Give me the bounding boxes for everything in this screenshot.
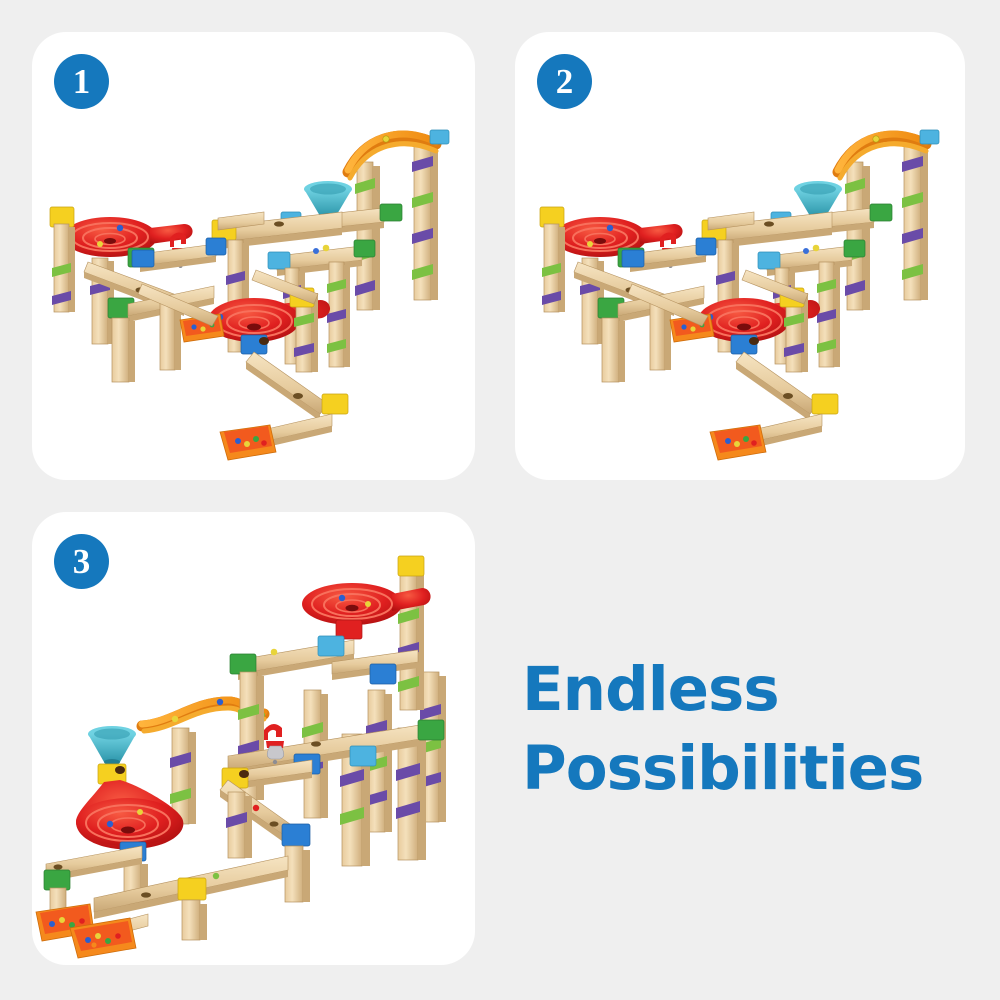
block-yellow-top-right (398, 556, 424, 576)
step-badge-1: 1 (54, 54, 109, 109)
tagline-line-2: Possibilities (522, 729, 962, 808)
block-blue-diag-end (282, 824, 310, 846)
block-green-mid-rail-right (418, 720, 444, 740)
run-structure (540, 130, 939, 460)
block-teal-top-right (920, 130, 939, 144)
block-green-lower-right (354, 240, 375, 257)
block-yellow-tray-joint (322, 394, 348, 414)
block-yellow-tray-joint (812, 394, 838, 414)
product-image: 1 (0, 0, 1000, 1000)
post-left-a (52, 224, 75, 312)
block-yellow-bottom-rail (178, 878, 206, 900)
post-midright-a (817, 262, 840, 367)
post-tall-right-a (412, 140, 438, 300)
post-bottom-mid (182, 900, 207, 940)
step-card-3: 3 (32, 512, 475, 965)
block-teal-upper-right (318, 636, 344, 656)
block-blue-bell-right (206, 238, 226, 255)
block-teal-mid-rail (350, 746, 376, 766)
block-teal-top-right (430, 130, 449, 144)
marble-tray-bottom (220, 425, 276, 460)
block-blue-bell-left (622, 250, 644, 267)
post-under-diag-left (226, 792, 252, 858)
block-green-lower-right (844, 240, 865, 257)
block-green-tray-joint (44, 870, 70, 890)
block-blue-under-funnel (241, 335, 269, 354)
post-midright-a (327, 262, 350, 367)
block-green-upper-left (230, 654, 256, 674)
run-structure (50, 130, 449, 460)
block-blue-bell-right (696, 238, 716, 255)
block-green-rail-right (870, 204, 892, 221)
post-left-a (542, 224, 565, 312)
tagline-line-1: Endless (522, 650, 962, 729)
block-blue-bell-left (132, 250, 154, 267)
step-badge-2: 2 (537, 54, 592, 109)
tagline: Endless Possibilities (522, 650, 962, 809)
post-tall-right-a (902, 140, 928, 300)
post-tall-right-b (355, 162, 380, 310)
block-teal-lower-left (758, 252, 780, 269)
block-teal-lower-left (268, 252, 290, 269)
block-green-rail-right (380, 204, 402, 221)
block-blue-mid-right (370, 664, 396, 684)
marble-tray-bottom (710, 425, 766, 460)
run-structure (36, 556, 446, 958)
block-blue-under-funnel (731, 335, 759, 354)
step-badge-3: 3 (54, 534, 109, 589)
post-under-diag (285, 846, 310, 902)
step-card-1: 1 (32, 32, 475, 480)
funnel-cone-teal (88, 726, 136, 765)
post-left-c (112, 318, 135, 382)
post-tall-right-b (845, 162, 870, 310)
post-left-c (602, 318, 625, 382)
step-card-2: 2 (515, 32, 965, 480)
funnel-spiral-red-left (76, 780, 183, 850)
